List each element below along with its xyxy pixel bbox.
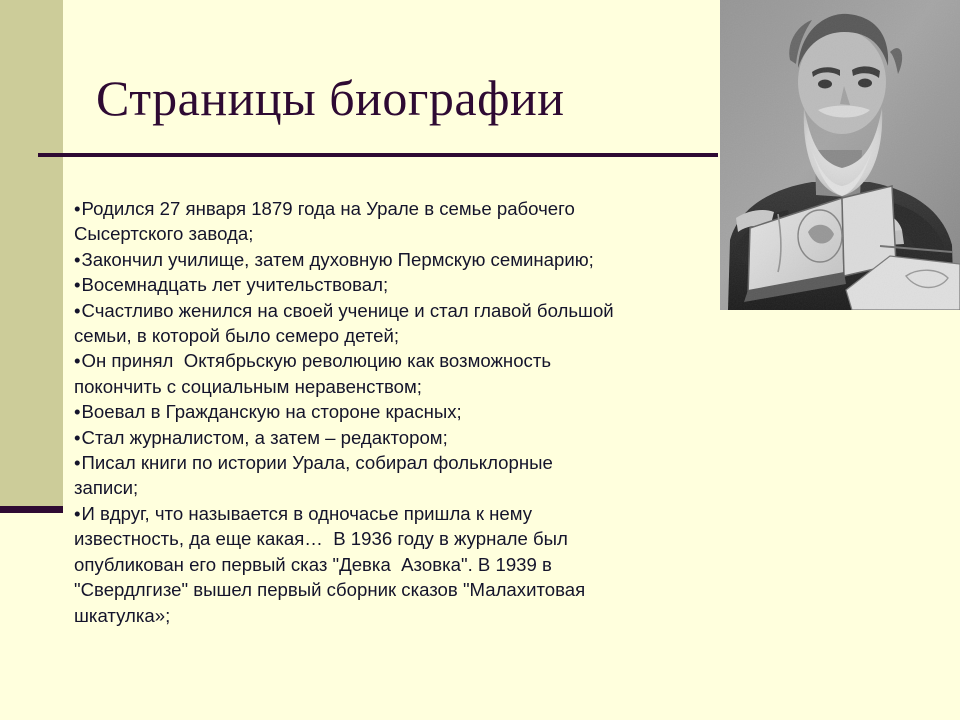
- bullet-text: Счастливо женился на своей ученице и ста…: [74, 298, 694, 323]
- bullet-text-continued: Сысертского завода;: [74, 221, 694, 246]
- list-item: Закончил училище, затем духовную Пермску…: [74, 247, 694, 272]
- list-item: Родился 27 января 1879 года на Урале в с…: [74, 196, 694, 247]
- slide: Страницы биографии: [0, 0, 960, 720]
- bullet-text-continued: семьи, в которой было семеро детей;: [74, 323, 694, 348]
- list-item: Счастливо женился на своей ученице и ста…: [74, 298, 694, 349]
- bullet-text-continued: "Свердлгизе" вышел первый сборник сказов…: [74, 577, 694, 602]
- list-item: Воевал в Гражданскую на стороне красных;: [74, 399, 694, 424]
- bullet-text-continued: опубликован его первый сказ "Девка Азовк…: [74, 552, 694, 577]
- page-title: Страницы биографии: [96, 70, 706, 128]
- bullet-text-continued: записи;: [74, 475, 694, 500]
- bullet-text: Восемнадцать лет учительствовал;: [74, 272, 694, 297]
- list-item: Он принял Октябрьскую революцию как возм…: [74, 348, 694, 399]
- bullet-text-continued: шкатулка»;: [74, 603, 694, 628]
- left-accent-bar: [0, 506, 63, 513]
- bullet-text: Он принял Октябрьскую революцию как возм…: [74, 348, 694, 373]
- bullet-text: Писал книги по истории Урала, собирал фо…: [74, 450, 694, 475]
- list-item: И вдруг, что называется в одночасье приш…: [74, 501, 694, 628]
- bullet-text: Закончил училище, затем духовную Пермску…: [74, 247, 694, 272]
- list-item: Писал книги по истории Урала, собирал фо…: [74, 450, 694, 501]
- bullet-text: Родился 27 января 1879 года на Урале в с…: [74, 196, 694, 221]
- list-item: Восемнадцать лет учительствовал;: [74, 272, 694, 297]
- left-decorative-band: [0, 0, 63, 506]
- portrait-photo-image: [720, 0, 960, 310]
- bullet-text-continued: известность, да еще какая… В 1936 году в…: [74, 526, 694, 551]
- bullet-text: Воевал в Гражданскую на стороне красных;: [74, 399, 694, 424]
- bullet-text-continued: покончить с социальным неравенством;: [74, 374, 694, 399]
- biography-bullet-list: Родился 27 января 1879 года на Урале в с…: [74, 196, 694, 628]
- bullet-text: Стал журналистом, а затем – редактором;: [74, 425, 694, 450]
- list-item: Стал журналистом, а затем – редактором;: [74, 425, 694, 450]
- title-divider: [38, 153, 718, 157]
- portrait-photo: [720, 0, 960, 310]
- bullet-text: И вдруг, что называется в одночасье приш…: [74, 501, 694, 526]
